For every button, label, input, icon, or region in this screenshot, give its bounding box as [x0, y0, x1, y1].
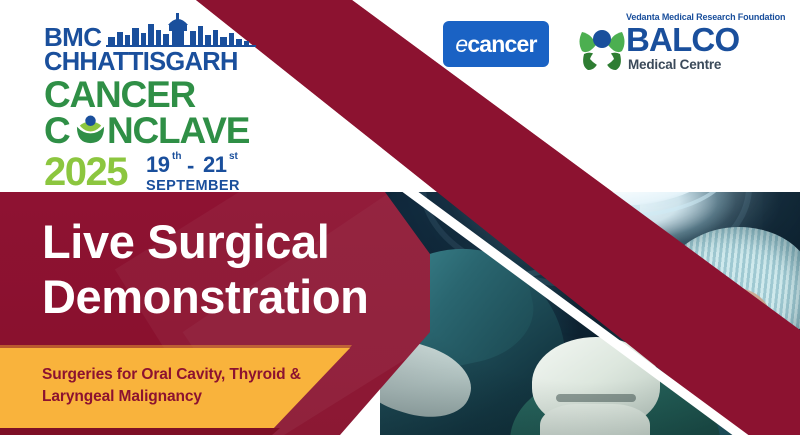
balco-sub-label: Medical Centre — [628, 57, 721, 72]
title-line-1: Live Surgical — [42, 215, 452, 270]
page-subtitle: Surgeries for Oral Cavity, Thyroid & Lar… — [42, 364, 372, 409]
date-end: 21 — [203, 152, 226, 178]
ecancer-word: cancer — [467, 31, 536, 57]
date-start: 19 — [146, 152, 169, 178]
conference-banner: Live Surgical Demonstration Surgeries fo… — [0, 0, 800, 435]
date-start-suffix: th — [172, 151, 181, 162]
balco-logo[interactable]: Vedanta Medical Research Foundation BALC… — [578, 12, 783, 76]
conclave-row: C NCLAVE — [44, 110, 284, 148]
ecancer-e: e — [455, 31, 467, 57]
ecancer-wordmark: ecancer — [455, 31, 536, 58]
event-dates: 19 th - 21 st SEPTEMBER — [146, 152, 276, 198]
page-title: Live Surgical Demonstration — [42, 215, 452, 325]
city-skyline-icon — [106, 13, 256, 47]
year-label: 2025 — [44, 150, 127, 195]
balco-emblem-icon — [578, 26, 626, 72]
hands-bowl-icon — [75, 114, 106, 145]
bmc-row: BMC — [44, 22, 284, 48]
state-label: CHHATTISGARH — [44, 48, 238, 77]
conclave-c: C — [44, 110, 70, 152]
date-end-suffix: st — [229, 151, 238, 162]
balco-name-label: BALCO — [626, 21, 739, 59]
conclave-rest: NCLAVE — [107, 110, 249, 152]
ecancer-logo[interactable]: ecancer — [443, 21, 549, 67]
title-line-2: Demonstration — [42, 270, 452, 325]
conclave-logo: BMC — [44, 22, 284, 177]
date-month: SEPTEMBER — [146, 178, 240, 194]
date-separator: - — [187, 153, 194, 179]
